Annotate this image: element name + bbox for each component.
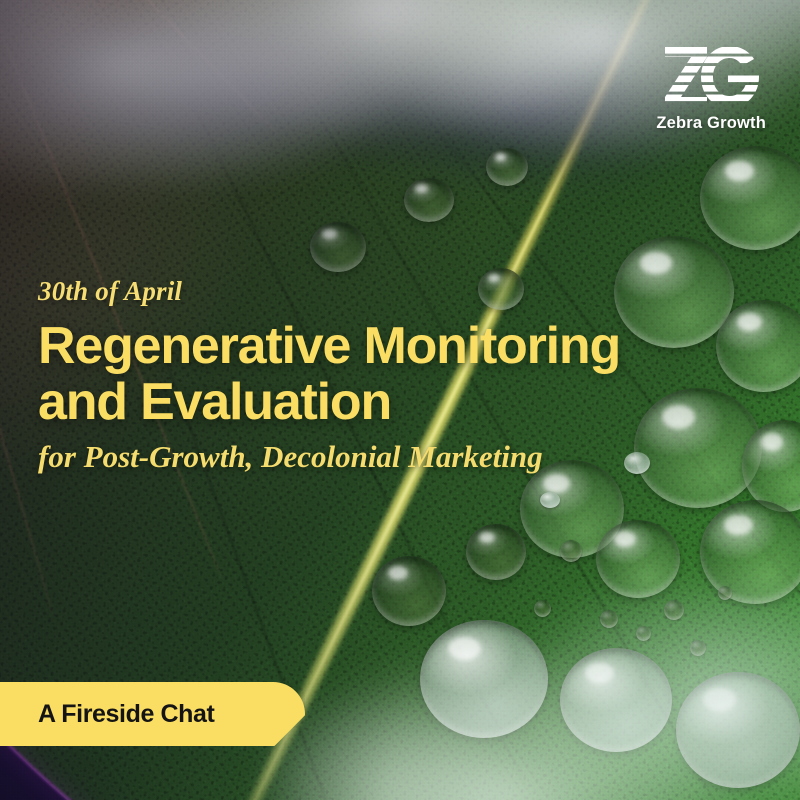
zg-zebra-monogram-logo-icon — [663, 46, 759, 108]
headline-line-2: and Evaluation — [38, 374, 768, 430]
brand-logo[interactable]: Zebra Growth — [656, 46, 766, 133]
format-tag-label: A Fireside Chat — [38, 682, 214, 746]
event-headline: Regenerative Monitoring and Evaluation — [38, 318, 768, 430]
event-text-block: 30th of April Regenerative Monitoring an… — [38, 278, 768, 474]
event-subheadline: for Post-Growth, Decolonial Marketing — [38, 440, 768, 474]
poster-content: Zebra Growth 30th of April Regenerative … — [0, 0, 800, 800]
event-date: 30th of April — [38, 278, 768, 305]
brand-wordmark: Zebra Growth — [656, 114, 766, 133]
event-poster: Zebra Growth 30th of April Regenerative … — [0, 0, 800, 800]
headline-line-1: Regenerative Monitoring — [38, 318, 768, 374]
